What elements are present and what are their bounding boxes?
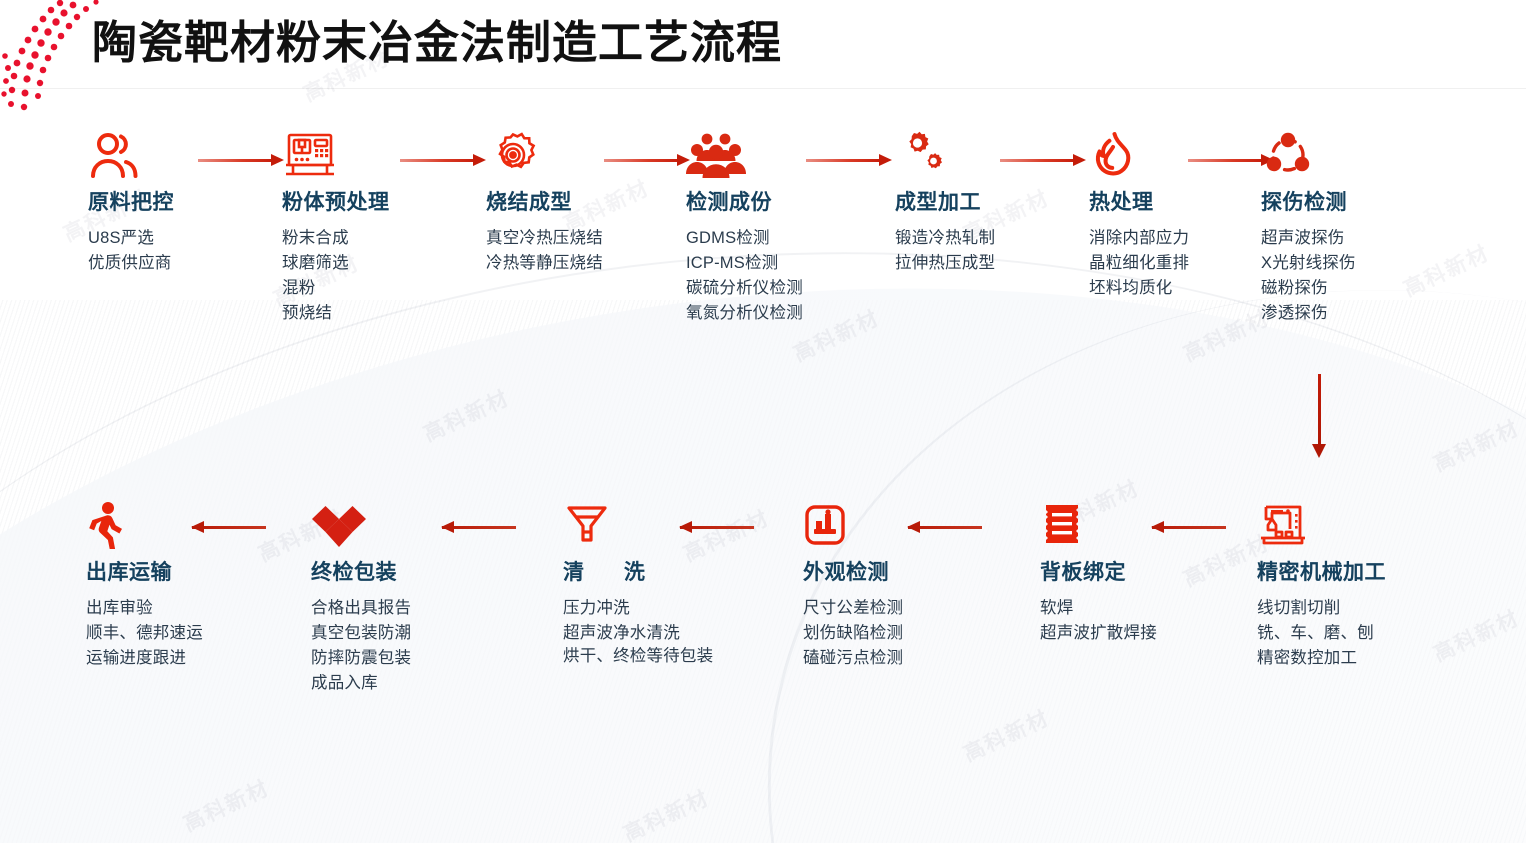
- title-divider: [0, 88, 1526, 89]
- funnel-icon: [563, 498, 763, 552]
- step-item: 优质供应商: [88, 251, 278, 276]
- step-items-9: 软焊 超声波扩散焊接: [1040, 596, 1230, 646]
- step-title-12: 终检包装: [311, 560, 501, 585]
- step-item: 拉伸热压成型: [895, 251, 1085, 276]
- step-card-7[interactable]: 探伤检测 超声波探伤 X光射线探伤 磁粉探伤 渗透探伤: [1261, 128, 1451, 327]
- step-items-7: 超声波探伤 X光射线探伤 磁粉探伤 渗透探伤: [1261, 226, 1451, 326]
- step-items-3: 真空冷热压烧结 冷热等静压烧结: [486, 226, 676, 276]
- step-title-13: 出库运输: [86, 560, 276, 585]
- bonding-plate-icon: [1040, 498, 1230, 552]
- step-card-5[interactable]: 成型加工 锻造冷热轧制 拉伸热压成型: [895, 128, 1085, 276]
- step-item: 烘干、终检等待包装: [563, 646, 721, 668]
- step-card-11[interactable]: 清 洗 压力冲洗 超声波净水清洗 烘干、终检等待包装: [563, 498, 763, 668]
- step-items-6: 消除内部应力 晶粒细化重排 坯料均质化: [1089, 226, 1279, 301]
- step-items-13: 出库审验 顺丰、德邦速运 运输进度跟进: [86, 596, 276, 671]
- step-items-1: U8S严选 优质供应商: [88, 226, 278, 276]
- watermark: 高科新材: [178, 772, 274, 838]
- flow-arrow-right: [806, 152, 892, 168]
- flow-arrow-right: [1000, 152, 1086, 168]
- page-title: 陶瓷靶材粉末冶金法制造工艺流程: [92, 6, 782, 71]
- flaw-detect-icon: [1261, 128, 1451, 182]
- step-item: 划伤缺陷检测: [803, 621, 993, 646]
- step-item: 磕碰污点检测: [803, 646, 993, 671]
- step-item: 预烧结: [282, 301, 472, 326]
- step-item: 超声波探伤: [1261, 226, 1451, 251]
- step-item: 氧氮分析仪检测: [686, 301, 876, 326]
- step-item: 运输进度跟进: [86, 646, 276, 671]
- step-item: 尺寸公差检测: [803, 596, 993, 621]
- step-card-8[interactable]: 精密机械加工 线切割切削 铣、车、磨、刨 精密数控加工: [1257, 498, 1447, 671]
- flow-arrow-right: [400, 152, 486, 168]
- step-title-11: 清 洗: [563, 560, 763, 585]
- appearance-inspect-icon: [803, 498, 993, 552]
- step-item: 消除内部应力: [1089, 226, 1279, 251]
- step-title-4: 检测成份: [686, 190, 876, 215]
- open-box-icon: [311, 498, 501, 552]
- step-title-6: 热处理: [1089, 190, 1279, 215]
- step-title-3: 烧结成型: [486, 190, 676, 215]
- step-item: 真空冷热压烧结: [486, 226, 676, 251]
- step-card-9[interactable]: 背板绑定 软焊 超声波扩散焊接: [1040, 498, 1230, 646]
- step-items-12: 合格出具报告 真空包装防潮 防摔防震包装 成品入库: [311, 596, 501, 696]
- step-items-8: 线切割切削 铣、车、磨、刨 精密数控加工: [1257, 596, 1447, 671]
- step-item: ICP-MS检测: [686, 251, 876, 276]
- step-item: 顺丰、德邦速运: [86, 621, 276, 646]
- step-item: 防摔防震包装: [311, 646, 501, 671]
- watermark: 高科新材: [1178, 302, 1274, 368]
- step-item: U8S严选: [88, 226, 278, 251]
- step-item: 真空包装防潮: [311, 621, 501, 646]
- step-item: 磁粉探伤: [1261, 276, 1451, 301]
- background-decoration: [0, 0, 1526, 843]
- step-card-12[interactable]: 终检包装 合格出具报告 真空包装防潮 防摔防震包装 成品入库: [311, 498, 501, 697]
- step-item: 精密数控加工: [1257, 646, 1447, 671]
- step-card-13[interactable]: 出库运输 出库审验 顺丰、德邦速运 运输进度跟进: [86, 498, 276, 671]
- step-item: 坯料均质化: [1089, 276, 1279, 301]
- step-item: 超声波净水清洗: [563, 621, 763, 646]
- watermark: 高科新材: [1428, 412, 1524, 478]
- step-item: 碳硫分析仪检测: [686, 276, 876, 301]
- step-item: 出库审验: [86, 596, 276, 621]
- step-item: 成品入库: [311, 671, 501, 696]
- step-item: 混粉: [282, 276, 472, 301]
- step-items-4: GDMS检测 ICP-MS检测 碳硫分析仪检测 氧氮分析仪检测: [686, 226, 876, 326]
- step-item: X光射线探伤: [1261, 251, 1451, 276]
- step-items-5: 锻造冷热轧制 拉伸热压成型: [895, 226, 1085, 276]
- step-item: 软焊: [1040, 596, 1230, 621]
- step-card-1[interactable]: 原料把控 U8S严选 优质供应商: [88, 128, 278, 276]
- flow-arrow-right: [604, 152, 690, 168]
- step-card-3[interactable]: 烧结成型 真空冷热压烧结 冷热等静压烧结: [486, 128, 676, 276]
- step-title-8: 精密机械加工: [1257, 560, 1447, 585]
- step-item: 冷热等静压烧结: [486, 251, 676, 276]
- flow-arrow-right: [198, 152, 284, 168]
- step-title-9: 背板绑定: [1040, 560, 1230, 585]
- step-items-2: 粉末合成 球磨筛选 混粉 预烧结: [282, 226, 472, 326]
- infographic-page: 高科新材 高科新材 高科新材 高科新材 高科新材 高科新材 高科新材 高科新材 …: [0, 0, 1526, 843]
- step-title-10: 外观检测: [803, 560, 993, 585]
- watermark: 高科新材: [618, 782, 714, 843]
- step-item: 超声波扩散焊接: [1040, 621, 1230, 646]
- step-item: 渗透探伤: [1261, 301, 1451, 326]
- step-item: GDMS检测: [686, 226, 876, 251]
- step-item: 粉末合成: [282, 226, 472, 251]
- step-title-7: 探伤检测: [1261, 190, 1451, 215]
- step-item: 压力冲洗: [563, 596, 763, 621]
- step-title-2: 粉体预处理: [282, 190, 472, 215]
- step-item: 晶粒细化重排: [1089, 251, 1279, 276]
- flow-arrow-down: [1311, 374, 1327, 458]
- walking-person-icon: [86, 498, 276, 552]
- step-item: 锻造冷热轧制: [895, 226, 1085, 251]
- watermark: 高科新材: [958, 702, 1054, 768]
- step-item: 线切割切削: [1257, 596, 1447, 621]
- watermark: 高科新材: [418, 382, 514, 448]
- step-item: 铣、车、磨、刨: [1257, 621, 1447, 646]
- step-item: 合格出具报告: [311, 596, 501, 621]
- step-title-5: 成型加工: [895, 190, 1085, 215]
- cnc-machine-icon: [1257, 498, 1447, 552]
- step-card-10[interactable]: 外观检测 尺寸公差检测 划伤缺陷检测 磕碰污点检测: [803, 498, 993, 671]
- step-title-1: 原料把控: [88, 190, 278, 215]
- step-items-10: 尺寸公差检测 划伤缺陷检测 磕碰污点检测: [803, 596, 993, 671]
- step-items-11: 压力冲洗 超声波净水清洗 烘干、终检等待包装: [563, 596, 763, 668]
- step-item: 球磨筛选: [282, 251, 472, 276]
